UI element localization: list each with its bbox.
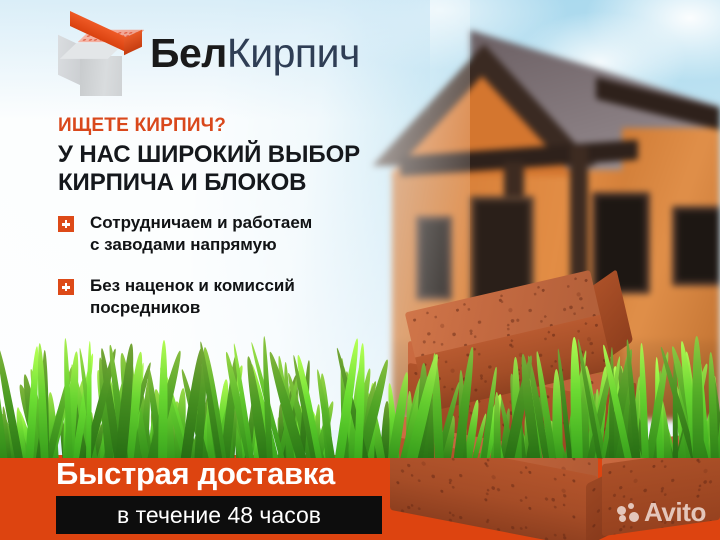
avito-dots-logo-icon: [617, 503, 639, 523]
house-window-3: [672, 206, 720, 286]
brand-logo-text-kirpich: Кирпич: [227, 30, 360, 76]
banner-subtitle-box: в течение 48 часов: [56, 496, 382, 534]
page-title: У НАС ШИРОКИЙ ВЫБОР КИРПИЧА И БЛОКОВ: [58, 141, 360, 197]
brand-logo-text-bel: Бел: [150, 30, 227, 76]
plus-square-icon: [58, 279, 74, 295]
list-item-line-2: посредников: [90, 298, 200, 317]
logo-block-front: [80, 56, 122, 96]
headline-line-1: У НАС ШИРОКИЙ ВЫБОР: [58, 141, 360, 169]
headline-line-2: КИРПИЧА И БЛОКОВ: [58, 169, 360, 197]
list-item-text: Сотрудничаем и работаем с заводами напря…: [90, 212, 312, 256]
list-item-line-1: Сотрудничаем и работаем: [90, 213, 312, 232]
list-item-line-1: Без наценок и комиссий: [90, 276, 295, 295]
advertisement-banner: БелКирпич ИЩЕТЕ КИРПИЧ? У НАС ШИРОКИЙ ВЫ…: [0, 0, 720, 540]
feature-list: Сотрудничаем и работаем с заводами напря…: [58, 212, 388, 338]
brick-block-logo-icon: [58, 26, 146, 100]
list-item-text: Без наценок и комиссий посредников: [90, 275, 295, 319]
banner-subtitle: в течение 48 часов: [56, 496, 382, 534]
list-item-line-2: с заводами напрямую: [90, 235, 277, 254]
brand-logo: БелКирпич: [58, 24, 358, 100]
brand-logo-text: БелКирпич: [150, 30, 360, 77]
list-item: Сотрудничаем и работаем с заводами напря…: [58, 212, 388, 256]
plus-square-icon: [58, 216, 74, 232]
list-item: Без наценок и комиссий посредников: [58, 275, 388, 319]
banner-title: Быстрая доставка: [56, 456, 335, 492]
headline-kicker: ИЩЕТЕ КИРПИЧ?: [58, 115, 226, 137]
avito-watermark: Avito: [617, 497, 706, 528]
avito-wordmark: Avito: [644, 497, 706, 528]
